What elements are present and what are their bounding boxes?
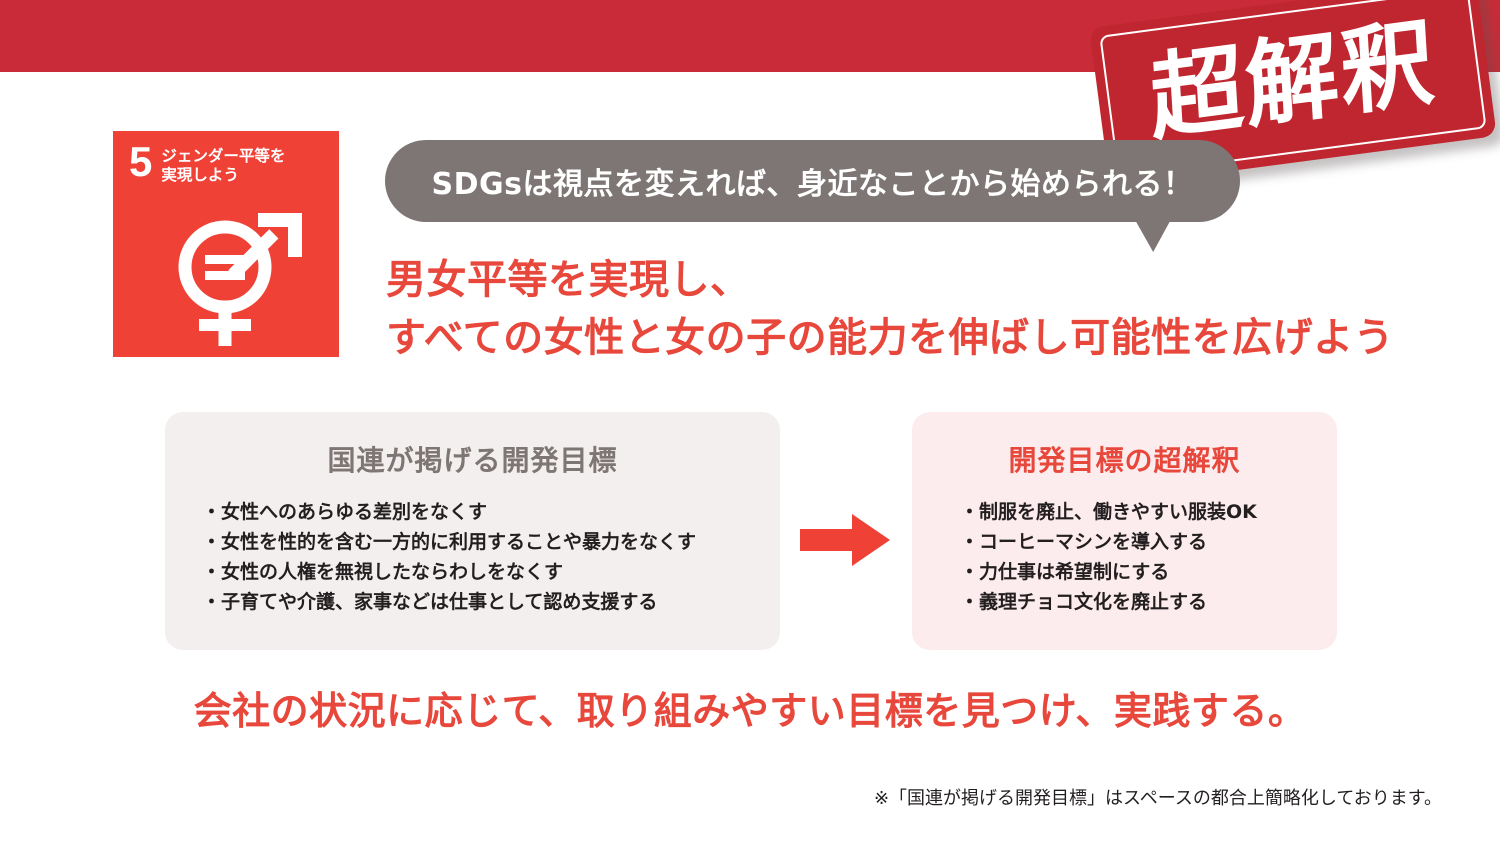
list-item: ・コーヒーマシンを導入する [960, 527, 1337, 557]
panel-reinterpretation: 開発目標の超解釈 ・制服を廃止、働きやすい服装OK ・コーヒーマシンを導入する … [912, 412, 1337, 650]
sdg-tile-header: 5 ジェンダー平等を 実現しよう [129, 143, 285, 186]
list-item: ・義理チョコ文化を廃止する [960, 587, 1337, 617]
list-item: ・女性の人権を無視したならわしをなくす [202, 557, 780, 587]
sdg-goal-title: ジェンダー平等を 実現しよう [161, 143, 285, 186]
panel-un-goals: 国連が掲げる開発目標 ・女性へのあらゆる差別をなくす ・女性を性的を含む一方的に… [165, 412, 780, 650]
stamp-label: 超解釈 [1147, 16, 1438, 148]
panel-un-title: 国連が掲げる開発目標 [165, 439, 780, 479]
speech-bubble-text: SDGsは視点を変えれば、身近なことから始められる！ [432, 159, 1194, 203]
sdg-goal-number: 5 [129, 143, 152, 182]
right-arrow-icon [800, 514, 890, 566]
panel-reinterpretation-title: 開発目標の超解釈 [912, 439, 1337, 479]
sdg-goal-tile: 5 ジェンダー平等を 実現しよう [113, 131, 339, 357]
list-item: ・女性へのあらゆる差別をなくす [202, 497, 780, 527]
speech-bubble: SDGsは視点を変えれば、身近なことから始められる！ [385, 140, 1240, 222]
speech-bubble-tail [1133, 216, 1179, 252]
footnote-text: ※「国連が掲げる開発目標」はスペースの都合上簡略化しております。 [874, 784, 1442, 810]
goal-headline: 男女平等を実現し、 すべての女性と女の子の能力を伸ばし可能性を広げよう [386, 251, 1394, 367]
list-item: ・子育てや介護、家事などは仕事として認め支援する [202, 587, 780, 617]
list-item: ・力仕事は希望制にする [960, 557, 1337, 587]
list-item: ・女性を性的を含む一方的に利用することや暴力をなくす [202, 527, 780, 557]
panel-un-list: ・女性へのあらゆる差別をなくす ・女性を性的を含む一方的に利用することや暴力をな… [165, 497, 780, 617]
conclusion-text: 会社の状況に応じて、取り組みやすい目標を見つけ、実践する。 [0, 680, 1500, 735]
panel-reinterpretation-list: ・制服を廃止、働きやすい服装OK ・コーヒーマシンを導入する ・力仕事は希望制に… [912, 497, 1337, 617]
gender-equality-icon [163, 207, 313, 349]
list-item: ・制服を廃止、働きやすい服装OK [960, 497, 1337, 527]
